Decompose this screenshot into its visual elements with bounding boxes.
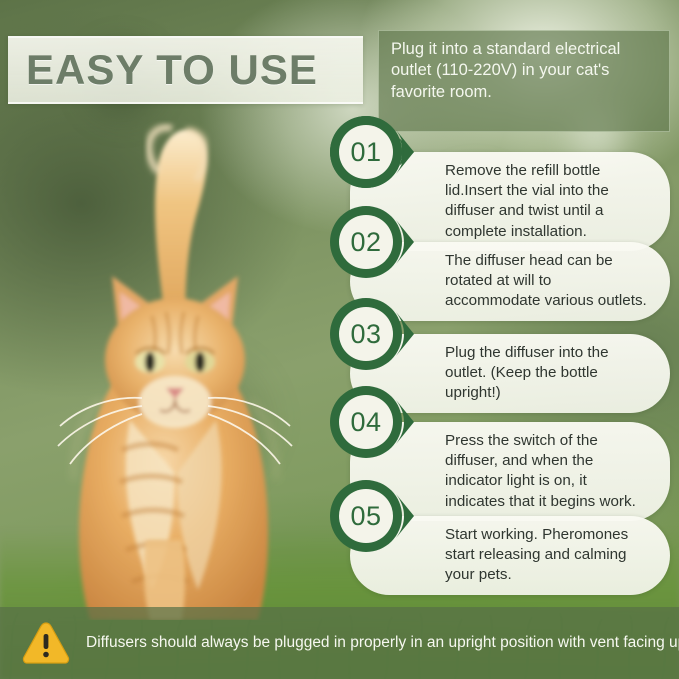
header-note-text: Plug it into a standard electrical outle… [391, 40, 620, 101]
step-text: Press the switch of the diffuser, and wh… [445, 431, 648, 512]
cat-illustration-icon [0, 120, 345, 620]
step-badge: 02 [330, 206, 414, 278]
step-number: 02 [330, 206, 402, 278]
warning-text: Diffusers should always be plugged in pr… [86, 632, 679, 654]
step-badge: 05 [330, 480, 414, 552]
step-text: Start working. Pheromones start releasin… [445, 525, 648, 586]
step-number: 01 [330, 116, 402, 188]
step-badge: 03 [330, 298, 414, 370]
step-badge: 04 [330, 386, 414, 458]
warning-triangle-icon [22, 621, 70, 665]
step-number: 04 [330, 386, 402, 458]
page-title: EASY TO USE [8, 49, 318, 91]
step-text: Plug the diffuser into the outlet. (Keep… [445, 343, 648, 404]
header-note-panel: Plug it into a standard electrical outle… [378, 30, 670, 132]
step-text: Remove the refill bottle lid.Insert the … [445, 161, 648, 242]
infographic-poster: EASY TO USE Plug it into a standard elec… [0, 0, 679, 679]
steps-list: Remove the refill bottle lid.Insert the … [330, 146, 679, 594]
warning-bar: Diffusers should always be plugged in pr… [0, 607, 679, 679]
step-badge: 01 [330, 116, 414, 188]
cat-photo [0, 120, 345, 620]
step-number: 05 [330, 480, 402, 552]
step-text: The diffuser head can be rotated at will… [445, 251, 648, 312]
title-panel: EASY TO USE [8, 36, 363, 104]
step-number: 03 [330, 298, 402, 370]
